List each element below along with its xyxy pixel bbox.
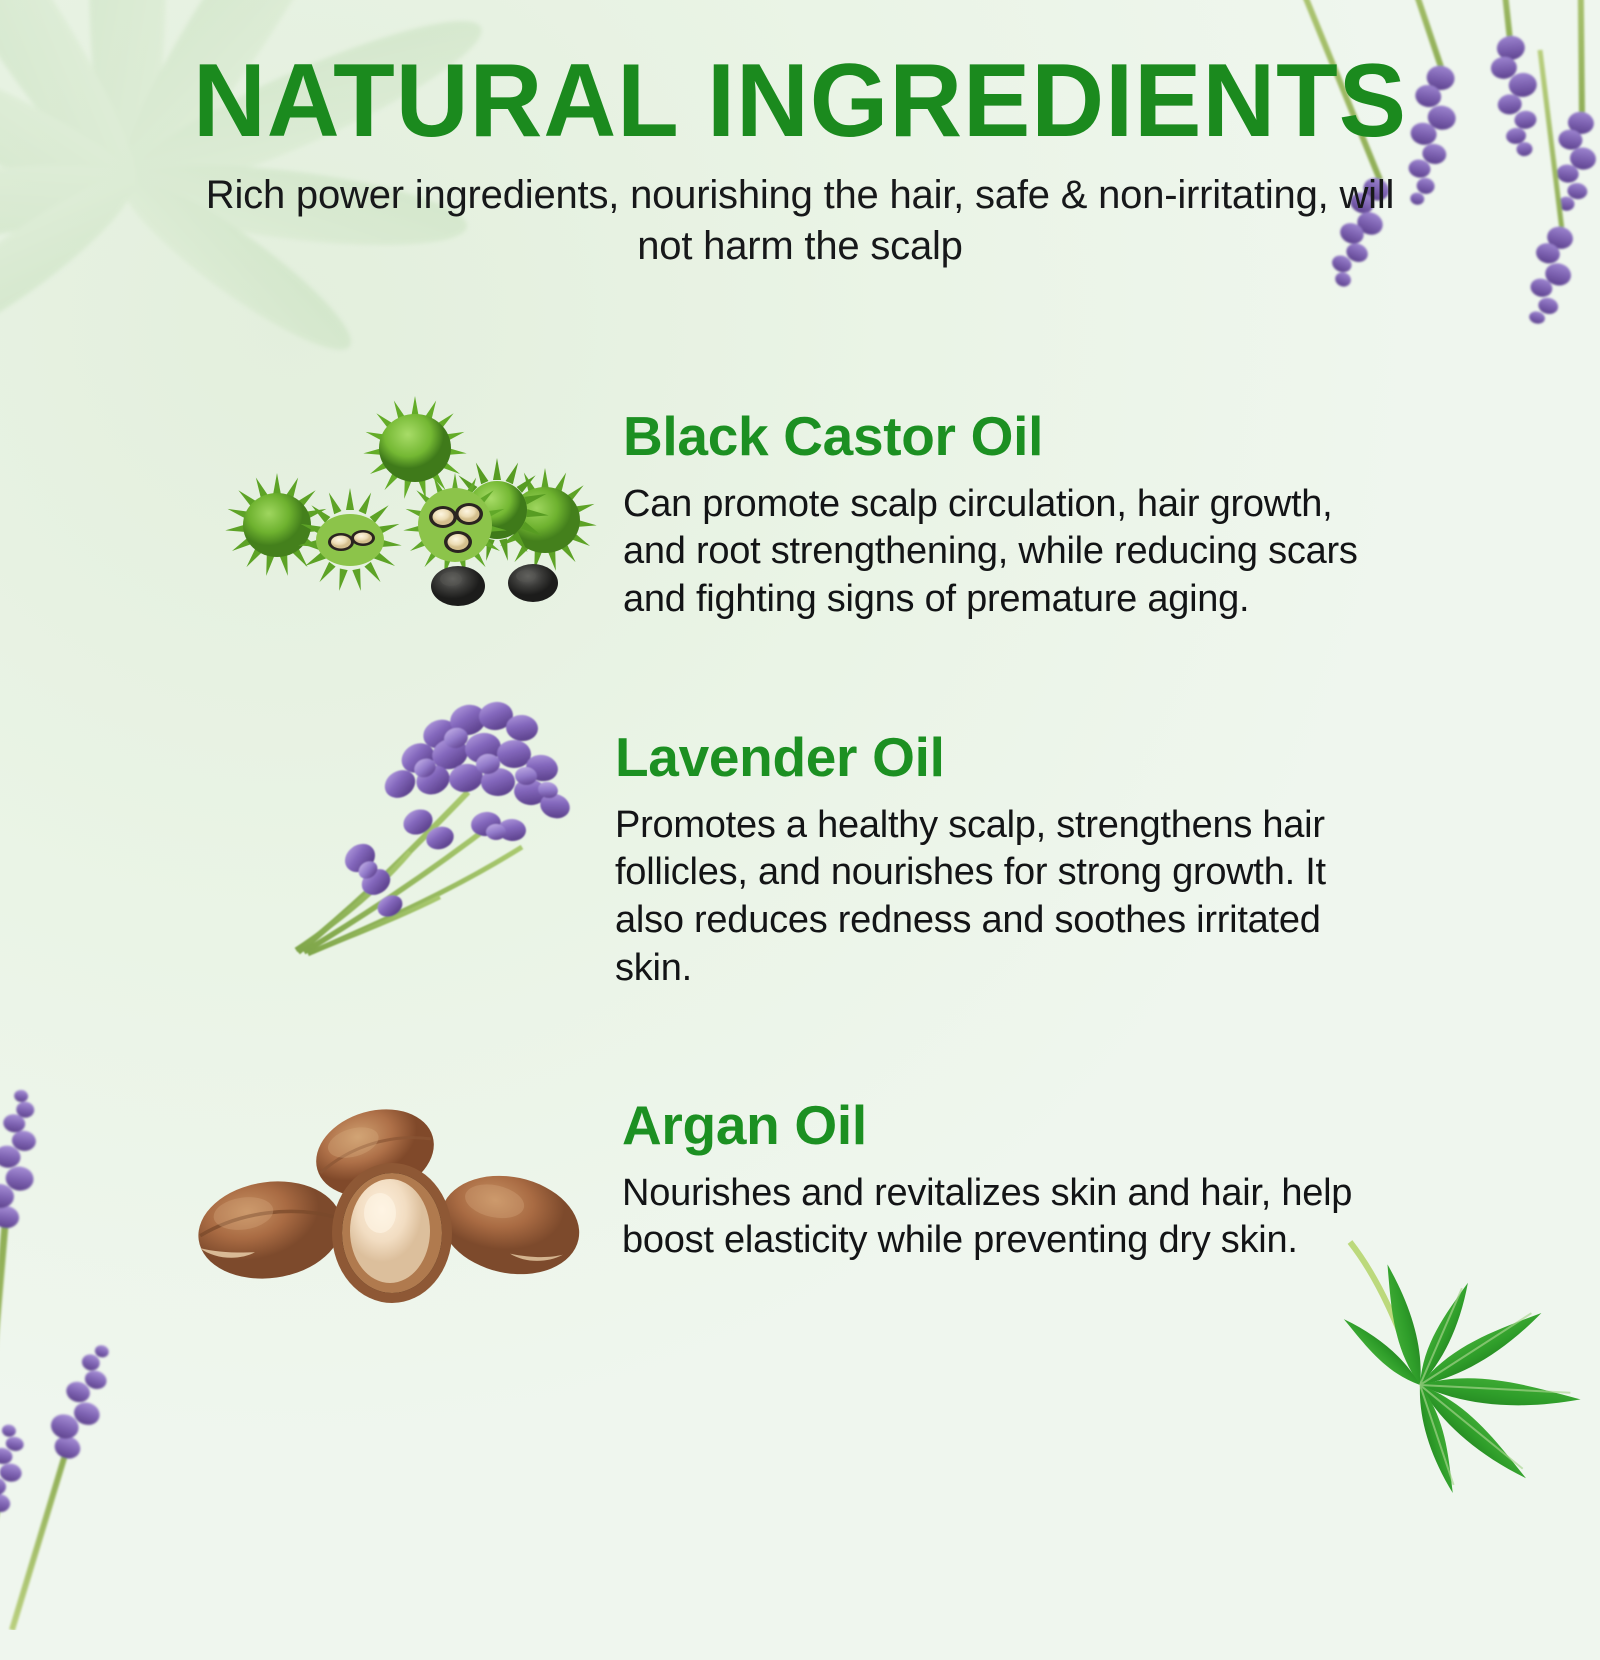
- ingredient-name: Lavender Oil: [615, 727, 1355, 788]
- page-title: NATURAL INGREDIENTS: [24, 46, 1576, 156]
- ingredient-name: Argan Oil: [622, 1095, 1362, 1156]
- page-subtitle: Rich power ingredients, nourishing the h…: [180, 170, 1420, 272]
- ingredient-name: Black Castor Oil: [623, 406, 1363, 467]
- ingredient-description: Promotes a healthy scalp, strengthens ha…: [615, 802, 1355, 994]
- castor-seed-pods-image: [215, 390, 605, 620]
- lavender-bouquet-image: [290, 672, 600, 957]
- ingredient-description: Nourishes and revitalizes skin and hair,…: [622, 1170, 1362, 1266]
- ingredient-row-black-castor-oil: Black Castor Oil Can promote scalp circu…: [215, 390, 1363, 624]
- header: NATURAL INGREDIENTS Rich power ingredien…: [0, 0, 1600, 273]
- argan-nuts-image: [170, 1065, 600, 1315]
- ingredient-description: Can promote scalp circulation, hair grow…: [623, 481, 1363, 625]
- ingredient-row-lavender-oil: Lavender Oil Promotes a healthy scalp, s…: [290, 672, 1355, 993]
- ingredient-row-argan-oil: Argan Oil Nourishes and revitalizes skin…: [170, 1065, 1362, 1315]
